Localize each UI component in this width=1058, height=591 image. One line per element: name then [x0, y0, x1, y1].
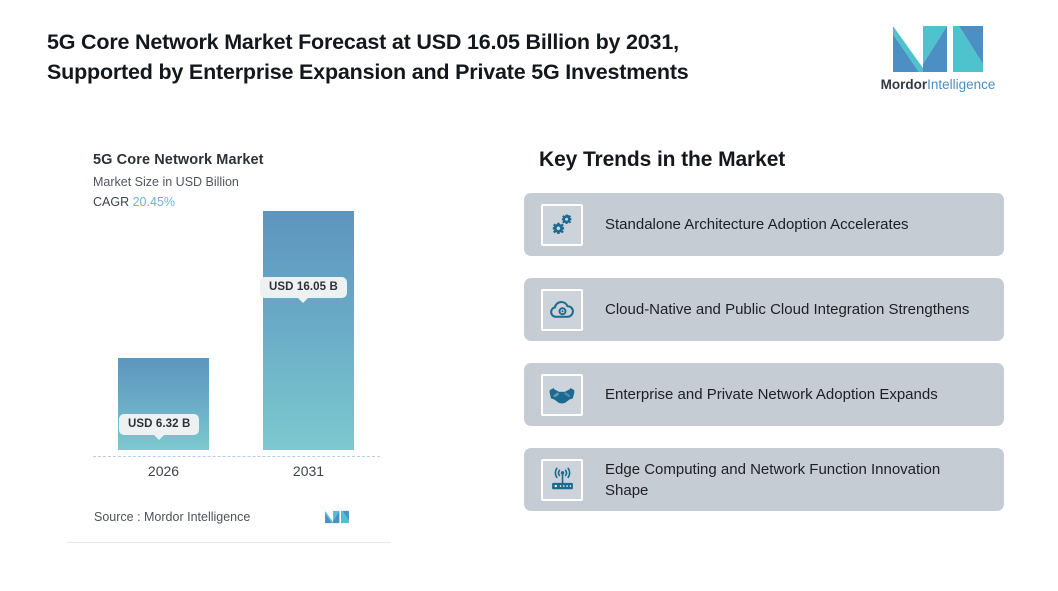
handshake-icon: [541, 374, 583, 416]
key-trends-section: Key Trends in the Market: [524, 148, 1004, 533]
mordor-m-logo-icon: [889, 24, 987, 74]
key-trends-title: Key Trends in the Market: [539, 148, 1004, 172]
chart-cagr-value: 20.45%: [133, 195, 175, 209]
brand-wordmark: MordorIntelligence: [878, 77, 998, 93]
trend-card-edge-computing[interactable]: Edge Computing and Network Function Inno…: [524, 448, 1004, 511]
chart-xtick-2026: 2026: [118, 463, 209, 479]
mordor-m-logo-small-icon: [324, 507, 350, 527]
trend-card-label: Standalone Architecture Adoption Acceler…: [605, 214, 909, 235]
trend-card-enterprise-private-network[interactable]: Enterprise and Private Network Adoption …: [524, 363, 1004, 426]
chart-bar-2031: [263, 211, 354, 450]
brand-logo: MordorIntelligence: [878, 24, 998, 94]
page-title-line-1: 5G Core Network Market Forecast at USD 1…: [47, 27, 837, 57]
trend-card-label: Cloud-Native and Public Cloud Integratio…: [605, 299, 969, 320]
chart-xtick-2031: 2031: [263, 463, 354, 479]
chart-cagr: CAGR 20.45%: [93, 195, 175, 209]
page-header: 5G Core Network Market Forecast at USD 1…: [0, 0, 1058, 110]
chart-cagr-label: CAGR: [93, 195, 129, 209]
chart-title: 5G Core Network Market: [93, 152, 264, 168]
chart-value-label-2026: USD 6.32 B: [119, 414, 199, 435]
trend-card-standalone-architecture[interactable]: Standalone Architecture Adoption Acceler…: [524, 193, 1004, 256]
brand-name-primary: Mordor: [881, 77, 928, 92]
cloud-icon: [541, 289, 583, 331]
page-title-line-2: Supported by Enterprise Expansion and Pr…: [47, 57, 837, 87]
trend-card-label: Edge Computing and Network Function Inno…: [605, 459, 985, 501]
router-signal-icon: [541, 459, 583, 501]
gears-icon: [541, 204, 583, 246]
chart-value-label-2031: USD 16.05 B: [260, 277, 347, 298]
trend-card-cloud-native[interactable]: Cloud-Native and Public Cloud Integratio…: [524, 278, 1004, 341]
chart-source-text: Source : Mordor Intelligence: [94, 510, 250, 524]
brand-name-secondary: Intelligence: [927, 77, 995, 92]
chart-reference-line: [93, 456, 380, 457]
trend-card-label: Enterprise and Private Network Adoption …: [605, 384, 938, 405]
chart-plot-area: USD 6.32 B USD 16.05 B 2026 2031: [66, 208, 391, 483]
chart-panel: 5G Core Network Market Market Size in US…: [66, 140, 391, 543]
page-title: 5G Core Network Market Forecast at USD 1…: [47, 27, 837, 87]
chart-subtitle: Market Size in USD Billion: [93, 175, 239, 189]
chart-source-row: Source : Mordor Intelligence: [66, 507, 391, 531]
